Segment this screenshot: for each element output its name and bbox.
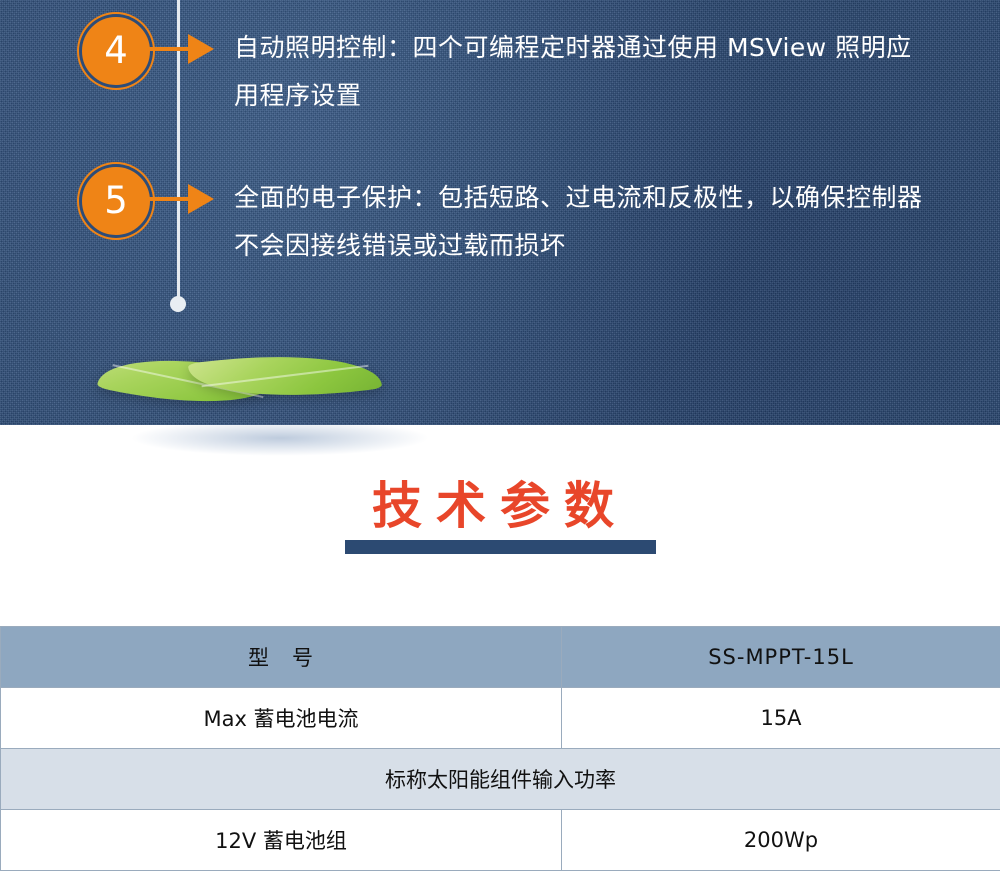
- page-title: 技术参数: [372, 477, 628, 535]
- table-header-value: SS-MPPT-15L: [562, 627, 1000, 688]
- timeline-rail: [177, 0, 180, 305]
- title-underline: [345, 540, 656, 554]
- table-cell-value: 15A: [562, 688, 1000, 749]
- leaf-shadow: [130, 420, 430, 456]
- hero-item-text-4: 自动照明控制：四个可编程定时器通过使用 MSView 照明应用程序设置: [234, 24, 934, 120]
- table-cell-merged: 标称太阳能组件输入功率: [1, 749, 1000, 810]
- table-header-label: 型 号: [1, 627, 562, 688]
- hero-item-text-5: 全面的电子保护：包括短路、过电流和反极性，以确保控制器不会因接线错误或过载而损坏: [234, 174, 934, 270]
- table-row: 型 号 SS-MPPT-15L: [1, 627, 1000, 688]
- leaf-vein: [202, 365, 368, 387]
- timeline-end-dot: [170, 296, 186, 312]
- arrow-icon-4: [188, 34, 214, 64]
- hero-panel: 4 自动照明控制：四个可编程定时器通过使用 MSView 照明应用程序设置 5 …: [0, 0, 1000, 425]
- bullet-connector-4: [146, 47, 178, 51]
- table-cell-label: Max 蓄电池电流: [1, 688, 562, 749]
- table-cell-label: 12V 蓄电池组: [1, 810, 562, 871]
- bullet-number-5: 5: [82, 167, 150, 235]
- spec-table: 型 号 SS-MPPT-15L Max 蓄电池电流 15A 标称太阳能组件输入功…: [0, 626, 1000, 871]
- table-cell-value: 200Wp: [562, 810, 1000, 871]
- table-row: 12V 蓄电池组 200Wp: [1, 810, 1000, 871]
- bullet-number-4: 4: [82, 17, 150, 85]
- table-row: Max 蓄电池电流 15A: [1, 688, 1000, 749]
- section-title-wrap: 技术参数: [0, 466, 1000, 538]
- table-row: 标称太阳能组件输入功率: [1, 749, 1000, 810]
- arrow-icon-5: [188, 184, 214, 214]
- bullet-connector-5: [146, 197, 178, 201]
